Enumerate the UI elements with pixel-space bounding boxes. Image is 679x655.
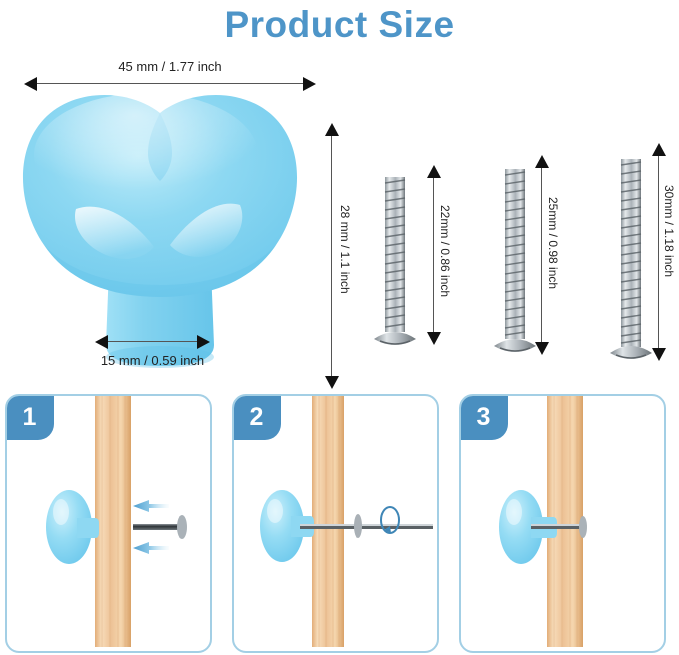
arrowhead-left-icon xyxy=(95,335,108,349)
page-title: Product Size xyxy=(0,4,679,46)
screw-30mm-label: 30mm / 1.18 inch xyxy=(662,185,676,277)
arrowhead-up-icon xyxy=(325,123,339,136)
arrowhead-up-icon xyxy=(427,165,441,178)
dimension-line xyxy=(658,153,659,351)
knob-height-label: 28 mm / 1.1 inch xyxy=(338,205,352,294)
step-number-badge-2: 2 xyxy=(232,394,281,440)
knob-base-width-dimension-arrow xyxy=(95,335,210,349)
product-size-infographic: Product Size 45 mm / 1.77 inch xyxy=(0,0,679,655)
knob-base-width-label: 15 mm / 0.59 inch xyxy=(80,353,225,368)
installation-steps: 1 xyxy=(0,388,679,655)
step-panel-1: 1 xyxy=(5,394,212,653)
knob-height-dimension-arrow xyxy=(325,123,339,389)
arrowhead-down-icon xyxy=(652,348,666,361)
dimension-line xyxy=(331,133,332,379)
arrowhead-down-icon xyxy=(427,332,441,345)
step-number-badge-3: 3 xyxy=(459,394,508,440)
dimension-line xyxy=(433,175,434,335)
step-panel-2: 2 xyxy=(232,394,439,653)
arrowhead-right-icon xyxy=(197,335,210,349)
dimension-line xyxy=(541,165,542,345)
step-panel-3: 3 xyxy=(459,394,666,653)
measurement-section: 45 mm / 1.77 inch xyxy=(0,55,679,385)
step-number-badge-1: 1 xyxy=(5,394,54,440)
arrowhead-up-icon xyxy=(652,143,666,156)
knob-illustration xyxy=(14,83,306,373)
arrowhead-up-icon xyxy=(535,155,549,168)
knob-width-label: 45 mm / 1.77 inch xyxy=(24,59,316,74)
rotation-arrow-icon xyxy=(381,507,399,533)
screw-30mm xyxy=(608,153,654,373)
screw-22mm xyxy=(372,171,418,366)
screw-22mm-label: 22mm / 0.86 inch xyxy=(438,205,452,297)
dimension-line xyxy=(105,341,200,342)
arrowhead-down-icon xyxy=(535,342,549,355)
screw-25mm-label: 25mm / 0.98 inch xyxy=(546,197,560,289)
screw-25mm xyxy=(492,163,538,368)
